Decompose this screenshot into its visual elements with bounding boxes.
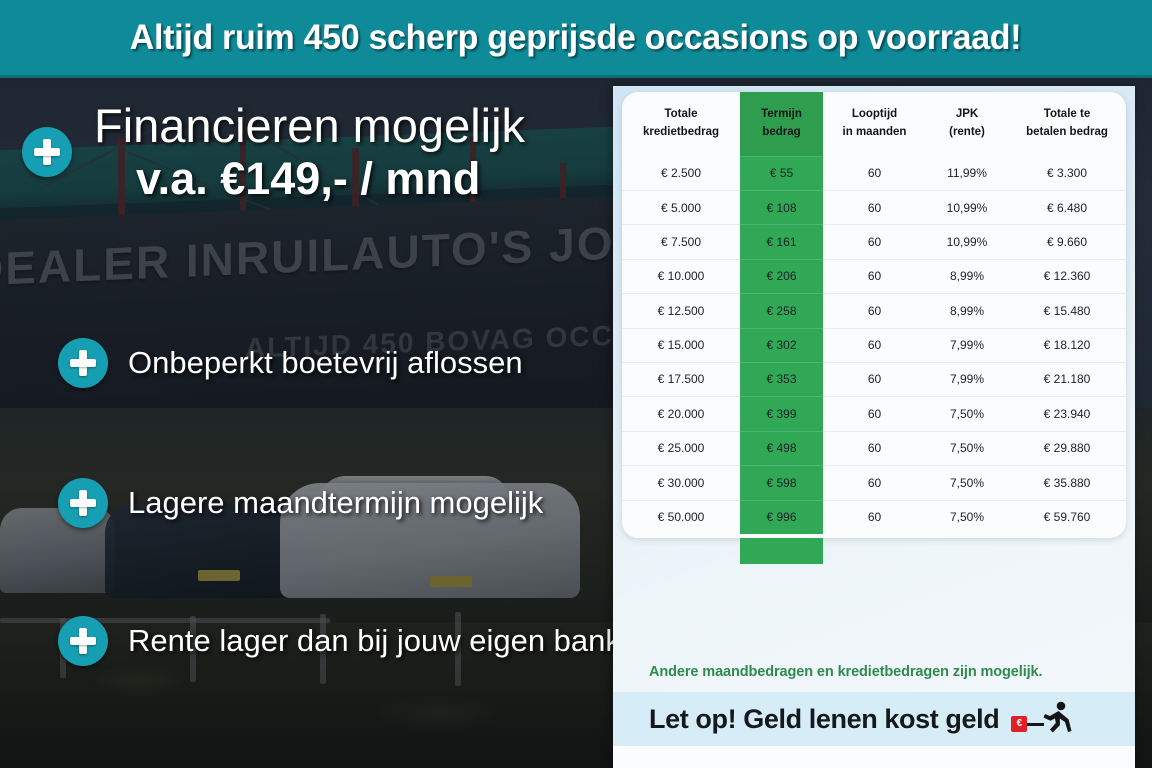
- warning-text: Let op! Geld lenen kost geld: [649, 704, 999, 735]
- plus-icon: [58, 338, 108, 388]
- cell-krediet: € 25.000: [622, 431, 740, 465]
- cell-termijn: € 399: [740, 397, 823, 431]
- cell-totaal: € 18.120: [1008, 328, 1126, 362]
- cell-looptijd: 60: [823, 362, 926, 396]
- table-row: € 20.000 € 399 60 7,50% € 23.940: [622, 397, 1126, 431]
- headline-block: Financieren mogelijk v.a. €149,- / mnd: [22, 100, 622, 204]
- panel-bottom-strip: [613, 746, 1135, 768]
- cell-looptijd: 60: [823, 225, 926, 259]
- rate-table-head: Totale kredietbedrag Termijn bedrag Loop…: [622, 92, 1126, 156]
- rate-table-card: Totale kredietbedrag Termijn bedrag Loop…: [622, 92, 1126, 538]
- col-header-termijn-line2: bedrag: [742, 124, 821, 142]
- cell-totaal: € 21.180: [1008, 362, 1126, 396]
- col-header-jkp: JPK (rente): [926, 92, 1008, 156]
- col-header-jkp-line2: (rente): [928, 124, 1006, 142]
- col-header-totaal: Totale te betalen bedrag: [1008, 92, 1126, 156]
- table-row: € 12.500 € 258 60 8,99% € 15.480: [622, 294, 1126, 328]
- cell-jkp: 11,99%: [926, 156, 1008, 190]
- cell-krediet: € 12.500: [622, 294, 740, 328]
- cell-looptijd: 60: [823, 397, 926, 431]
- table-row: € 5.000 € 108 60 10,99% € 6.480: [622, 191, 1126, 225]
- cell-termijn: € 55: [740, 156, 823, 190]
- col-header-looptijd: Looptijd in maanden: [823, 92, 926, 156]
- cell-jkp: 7,50%: [926, 500, 1008, 534]
- warning-bar: Let op! Geld lenen kost geld €: [613, 692, 1135, 746]
- col-header-jkp-line1: JPK: [928, 106, 1006, 124]
- plus-icon: [58, 616, 108, 666]
- info-panel: Totale kredietbedrag Termijn bedrag Loop…: [613, 86, 1135, 768]
- rate-table-body: € 2.500 € 55 60 11,99% € 3.300 € 5.000 €…: [622, 156, 1126, 534]
- headline-line-2: v.a. €149,- / mnd: [136, 153, 525, 205]
- cell-jkp: 8,99%: [926, 259, 1008, 293]
- cell-krediet: € 50.000: [622, 500, 740, 534]
- feature-list: Financieren mogelijk v.a. €149,- / mnd O…: [0, 78, 615, 768]
- cell-jkp: 7,50%: [926, 466, 1008, 500]
- feature-item: Onbeperkt boetevrij aflossen: [58, 338, 523, 388]
- table-row: € 50.000 € 996 60 7,50% € 59.760: [622, 500, 1126, 534]
- running-man-icon: [1039, 701, 1073, 737]
- cell-krediet: € 10.000: [622, 259, 740, 293]
- notice-title: Andere maandbedragen en kredietbedragen …: [649, 664, 1119, 680]
- col-header-looptijd-line1: Looptijd: [825, 106, 924, 124]
- cell-jkp: 10,99%: [926, 191, 1008, 225]
- euro-glyph: €: [1017, 719, 1023, 729]
- cell-termijn: € 598: [740, 466, 823, 500]
- cell-totaal: € 9.660: [1008, 225, 1126, 259]
- cell-termijn: € 498: [740, 431, 823, 465]
- cell-krediet: € 7.500: [622, 225, 740, 259]
- cell-totaal: € 6.480: [1008, 191, 1126, 225]
- cell-totaal: € 59.760: [1008, 500, 1126, 534]
- cell-jkp: 7,50%: [926, 397, 1008, 431]
- cell-krediet: € 2.500: [622, 156, 740, 190]
- geld-lenen-kost-geld-logo: €: [1011, 701, 1073, 737]
- table-row: € 15.000 € 302 60 7,99% € 18.120: [622, 328, 1126, 362]
- cell-krediet: € 5.000: [622, 191, 740, 225]
- cell-termijn: € 302: [740, 328, 823, 362]
- cell-totaal: € 3.300: [1008, 156, 1126, 190]
- cell-totaal: € 15.480: [1008, 294, 1126, 328]
- cell-jkp: 7,99%: [926, 362, 1008, 396]
- cell-looptijd: 60: [823, 191, 926, 225]
- col-header-krediet-line2: kredietbedrag: [624, 124, 738, 142]
- cell-jkp: 7,99%: [926, 328, 1008, 362]
- feature-item-label: Onbeperkt boetevrij aflossen: [128, 345, 523, 381]
- cell-termijn: € 258: [740, 294, 823, 328]
- cell-krediet: € 15.000: [622, 328, 740, 362]
- table-row: € 25.000 € 498 60 7,50% € 29.880: [622, 431, 1126, 465]
- cell-looptijd: 60: [823, 500, 926, 534]
- promo-banner-text: Altijd ruim 450 scherp geprijsde occasio…: [130, 18, 1021, 58]
- col-header-krediet: Totale kredietbedrag: [622, 92, 740, 156]
- headline-line-1: Financieren mogelijk: [94, 100, 525, 153]
- col-header-termijn-line1: Termijn: [742, 106, 821, 124]
- plus-icon: [58, 478, 108, 528]
- cell-termijn: € 161: [740, 225, 823, 259]
- cell-termijn: € 996: [740, 500, 823, 534]
- cell-looptijd: 60: [823, 294, 926, 328]
- cell-totaal: € 35.880: [1008, 466, 1126, 500]
- feature-item-label: Lagere maandtermijn mogelijk: [128, 485, 543, 521]
- feature-item-label: Rente lager dan bij jouw eigen bank: [128, 623, 621, 659]
- cell-looptijd: 60: [823, 431, 926, 465]
- plus-icon: [22, 127, 72, 177]
- cell-totaal: € 23.940: [1008, 397, 1126, 431]
- cell-looptijd: 60: [823, 466, 926, 500]
- cell-totaal: € 12.360: [1008, 259, 1126, 293]
- col-header-looptijd-line2: in maanden: [825, 124, 924, 142]
- cell-looptijd: 60: [823, 259, 926, 293]
- cell-jkp: 10,99%: [926, 225, 1008, 259]
- col-header-krediet-line1: Totale: [624, 106, 738, 124]
- cell-looptijd: 60: [823, 328, 926, 362]
- cell-termijn: € 353: [740, 362, 823, 396]
- cell-krediet: € 30.000: [622, 466, 740, 500]
- col-header-totaal-line2: betalen bedrag: [1010, 124, 1124, 142]
- feature-item: Rente lager dan bij jouw eigen bank: [58, 616, 621, 666]
- rate-table-header-row: Totale kredietbedrag Termijn bedrag Loop…: [622, 92, 1126, 156]
- table-row: € 2.500 € 55 60 11,99% € 3.300: [622, 156, 1126, 190]
- cell-jkp: 7,50%: [926, 431, 1008, 465]
- col-header-termijn: Termijn bedrag: [740, 92, 823, 156]
- table-row: € 17.500 € 353 60 7,99% € 21.180: [622, 362, 1126, 396]
- cell-totaal: € 29.880: [1008, 431, 1126, 465]
- cell-krediet: € 17.500: [622, 362, 740, 396]
- table-row: € 10.000 € 206 60 8,99% € 12.360: [622, 259, 1126, 293]
- feature-item: Lagere maandtermijn mogelijk: [58, 478, 543, 528]
- rate-table: Totale kredietbedrag Termijn bedrag Loop…: [622, 92, 1126, 534]
- table-row: € 7.500 € 161 60 10,99% € 9.660: [622, 225, 1126, 259]
- cell-jkp: 8,99%: [926, 294, 1008, 328]
- cell-termijn: € 108: [740, 191, 823, 225]
- promo-banner: Altijd ruim 450 scherp geprijsde occasio…: [0, 0, 1152, 78]
- table-row: € 30.000 € 598 60 7,50% € 35.880: [622, 466, 1126, 500]
- euro-square-icon: €: [1011, 716, 1027, 732]
- cell-looptijd: 60: [823, 156, 926, 190]
- highlight-column-extension: [740, 538, 823, 564]
- col-header-totaal-line1: Totale te: [1010, 106, 1124, 124]
- cell-termijn: € 206: [740, 259, 823, 293]
- cell-krediet: € 20.000: [622, 397, 740, 431]
